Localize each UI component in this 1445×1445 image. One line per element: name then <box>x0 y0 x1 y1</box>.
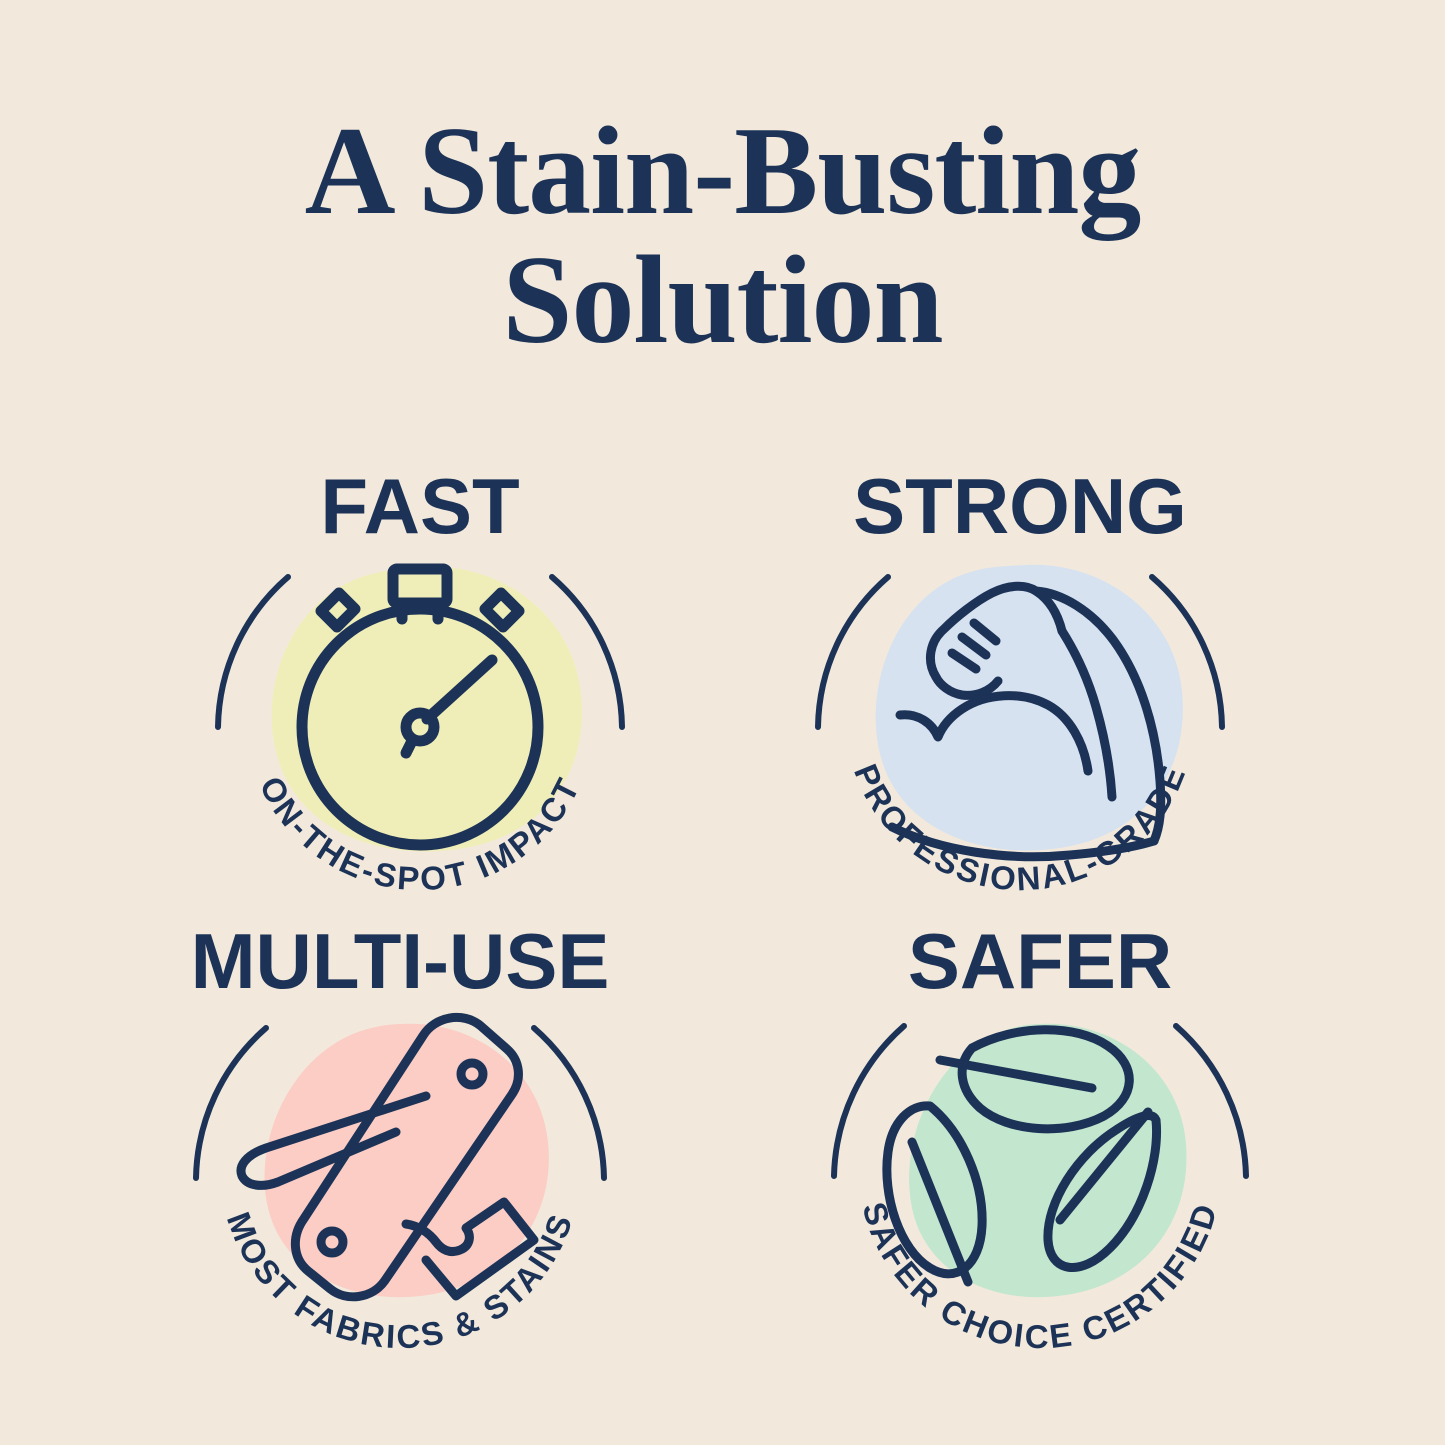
badge-title-strong: STRONG <box>853 462 1187 550</box>
poster-canvas: A Stain-Busting Solution FAST <box>0 0 1445 1445</box>
benefit-badge-grid: FAST ON-THE-SPOT <box>0 455 1445 1385</box>
benefit-badge-safer: SAFER SAFER CHOICE CER <box>760 920 1320 1350</box>
benefit-badge-strong: STRONG PROFESSIONAL-GRAD <box>740 465 1300 895</box>
ring-arc-right <box>1176 1026 1246 1176</box>
page-title-line-2: Solution <box>0 237 1445 366</box>
badge-title-safer: SAFER <box>908 917 1172 1005</box>
benefit-badge-fast: FAST ON-THE-SPOT <box>140 465 700 895</box>
badge-title-multi-use: MULTI-USE <box>191 917 610 1005</box>
page-title: A Stain-Busting Solution <box>0 108 1445 365</box>
benefit-badge-multi-use: MULTI-USE MOST FABRICS & <box>120 920 680 1350</box>
page-title-line-1: A Stain-Busting <box>0 108 1445 237</box>
badge-title-fast: FAST <box>320 462 519 550</box>
ring-arc-left <box>834 1026 904 1176</box>
